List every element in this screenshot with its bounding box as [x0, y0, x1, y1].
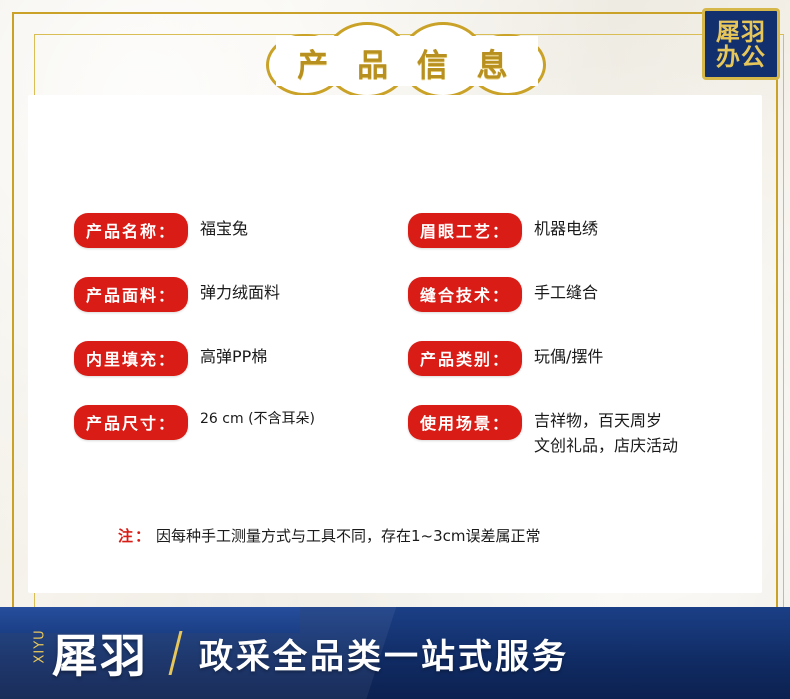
spec-label: 产品尺寸： [74, 405, 188, 440]
spec-label: 产品名称： [74, 213, 188, 248]
note-mark: 注： [118, 527, 152, 545]
spec-row-filling: 内里填充： 高弹PP棉 [74, 341, 267, 376]
spec-row-product-name: 产品名称： 福宝兔 [74, 213, 248, 248]
brand-logo-line-2: 办公 [716, 44, 766, 69]
brand-logo-badge: 犀羽 办公 [702, 8, 780, 80]
measurement-note: 注：因每种手工测量方式与工具不同，存在1~3cm误差属正常 [118, 525, 718, 546]
bottom-brand-banner: XIYU 犀羽 政采全品类一站式服务 [0, 607, 790, 699]
spec-label: 缝合技术： [408, 277, 522, 312]
spec-value: 弹力绒面料 [200, 277, 280, 306]
banner-content: XIYU 犀羽 政采全品类一站式服务 [30, 621, 569, 685]
spec-label: 内里填充： [74, 341, 188, 376]
spec-label: 产品类别： [408, 341, 522, 376]
page-title: 产 品 信 息 [262, 40, 552, 85]
spec-row-size: 产品尺寸： 26 cm (不含耳朵) [74, 405, 315, 440]
spec-value: 吉祥物，百天周岁 文创礼品，店庆活动 [534, 405, 678, 459]
spec-row-category: 产品类别： 玩偶/摆件 [408, 341, 603, 376]
spec-row-usage-scene: 使用场景： 吉祥物，百天周岁 文创礼品，店庆活动 [408, 405, 678, 459]
spec-label: 产品面料： [74, 277, 188, 312]
banner-slogan: 政采全品类一站式服务 [199, 629, 569, 678]
spec-list: 产品名称： 福宝兔 眉眼工艺： 机器电绣 产品面料： 弹力绒面料 缝合技术： 手… [28, 95, 762, 515]
product-info-page: 产 品 信 息 犀羽 办公 产品名称： 福宝兔 眉眼工艺： 机器电绣 产品面料：… [0, 0, 790, 699]
spec-value: 手工缝合 [534, 277, 598, 306]
brand-name-cn: 犀羽 [52, 620, 148, 686]
page-title-banner: 产 品 信 息 [262, 18, 552, 100]
spec-label: 眉眼工艺： [408, 213, 522, 248]
spec-value: 福宝兔 [200, 213, 248, 242]
spec-row-eyebrow-craft: 眉眼工艺： 机器电绣 [408, 213, 598, 248]
content-card: 产品名称： 福宝兔 眉眼工艺： 机器电绣 产品面料： 弹力绒面料 缝合技术： 手… [28, 95, 762, 593]
note-text: 因每种手工测量方式与工具不同，存在1~3cm误差属正常 [156, 527, 541, 545]
spec-value: 机器电绣 [534, 213, 598, 242]
spec-row-stitching: 缝合技术： 手工缝合 [408, 277, 598, 312]
spec-value: 玩偶/摆件 [534, 341, 603, 370]
brand-name-en: XIYU [33, 643, 48, 663]
brand-logo-line-1: 犀羽 [716, 19, 766, 44]
spec-value: 26 cm (不含耳朵) [200, 405, 315, 431]
banner-divider [169, 631, 183, 675]
spec-value: 高弹PP棉 [200, 341, 267, 370]
corner-ornament-top-left [12, 12, 48, 48]
spec-label: 使用场景： [408, 405, 522, 440]
spec-row-fabric: 产品面料： 弹力绒面料 [74, 277, 280, 312]
